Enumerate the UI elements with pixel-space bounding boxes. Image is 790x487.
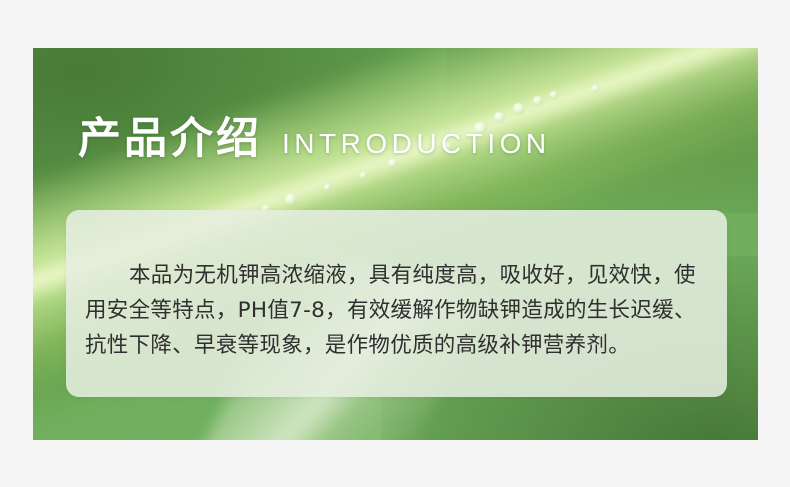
dew-drop: [513, 103, 525, 115]
description-card: 本品为无机钾高浓缩液，具有纯度高，吸收好，见效快，使用安全等特点，PH值7-8，…: [66, 210, 727, 397]
page-title-chinese: 产品介绍: [78, 118, 262, 161]
dew-drop: [592, 85, 599, 92]
dew-drop: [550, 91, 558, 99]
description-body-text: 本品为无机钾高浓缩液，具有纯度高，吸收好，见效快，使用安全等特点，PH值7-8，…: [85, 258, 711, 363]
page-title-english: INTRODUCTION: [282, 130, 551, 158]
banner-heading: 产品介绍 INTRODUCTION: [78, 118, 551, 161]
product-introduction-banner: 产品介绍 INTRODUCTION 本品为无机钾高浓缩液，具有纯度高，吸收好，见…: [33, 48, 758, 440]
dew-drop: [533, 96, 543, 106]
dew-drop: [360, 172, 367, 179]
